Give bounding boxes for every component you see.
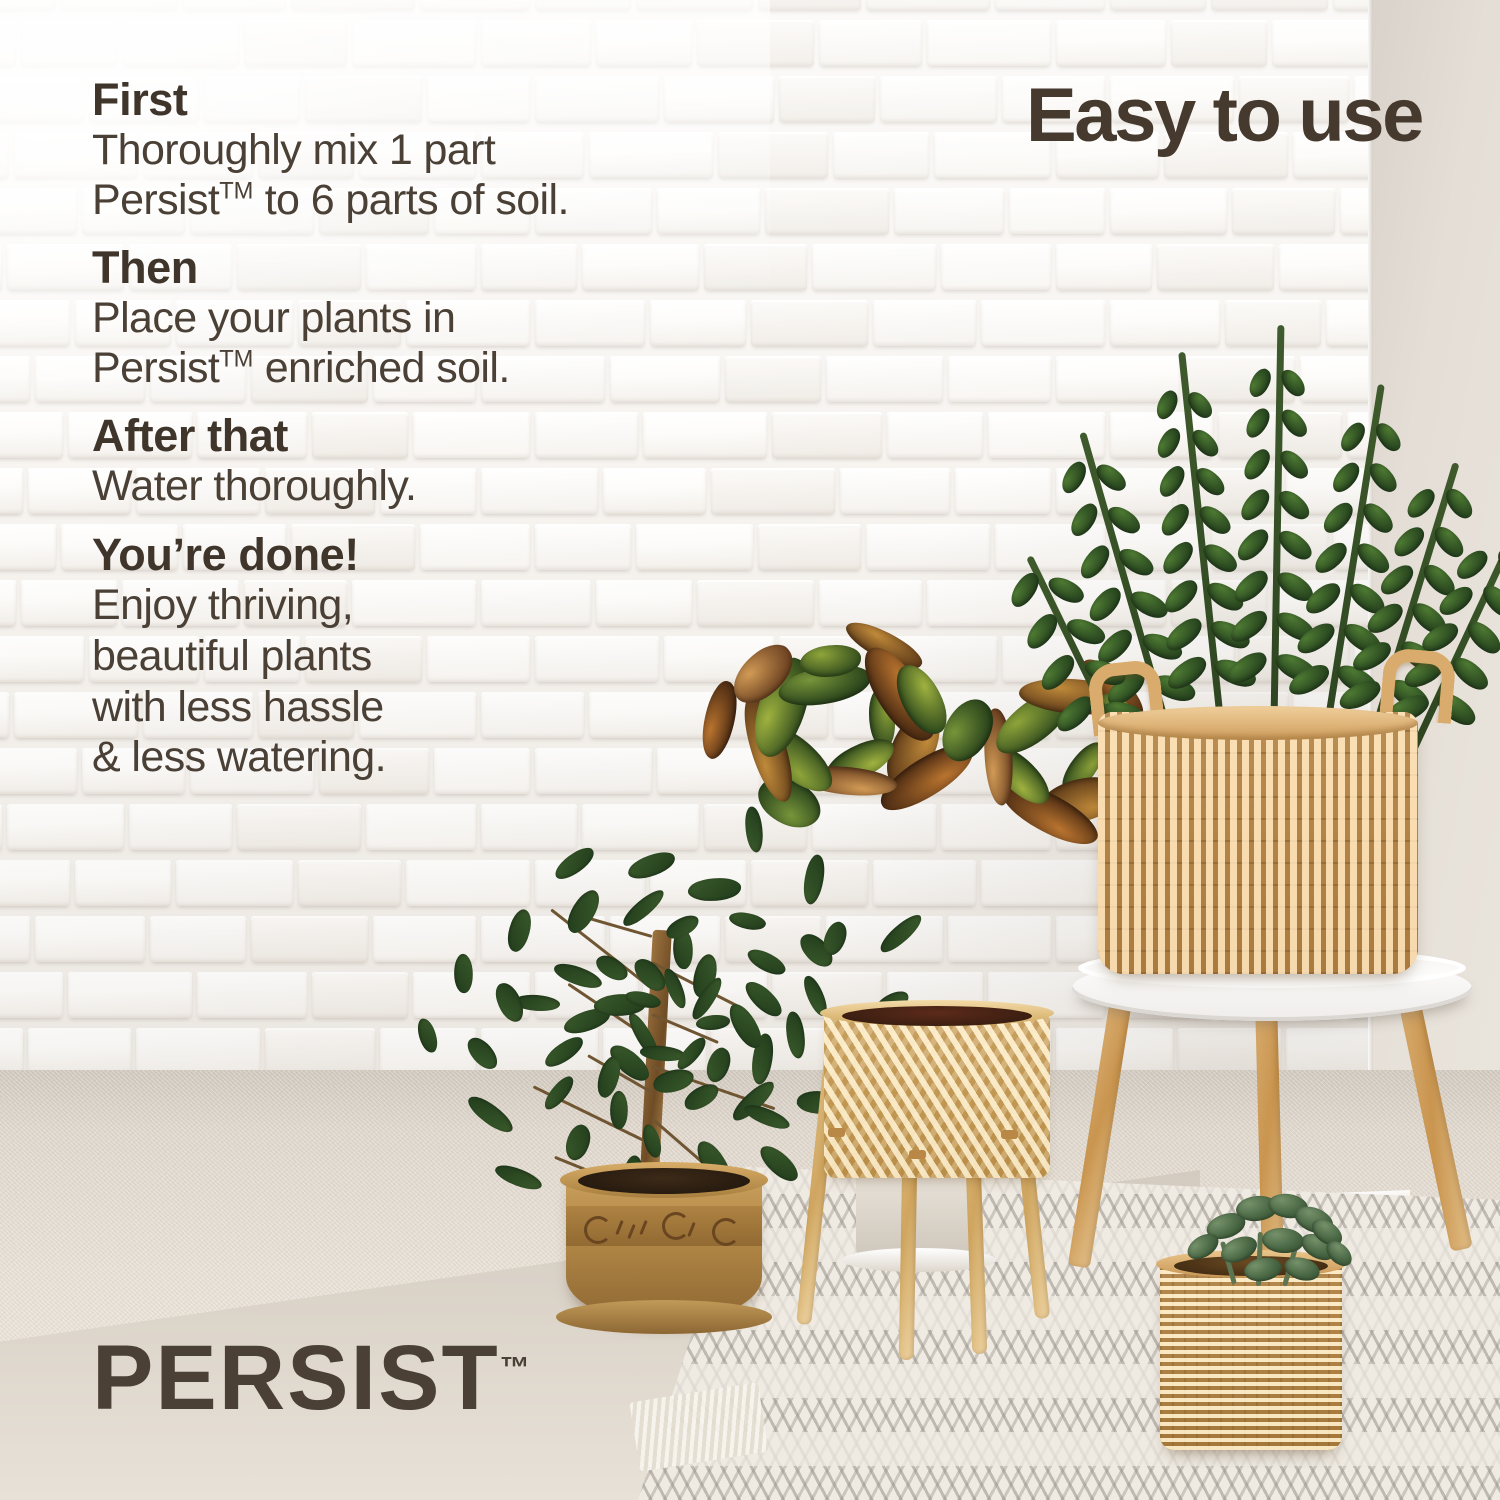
step-body-line: & less watering.	[92, 732, 752, 783]
step-body: Place your plants in PersistTM enriched …	[92, 293, 752, 394]
plant-leaf	[1389, 523, 1429, 561]
headline: Easy to use	[1026, 78, 1422, 154]
water-hyacinth-basket	[1098, 712, 1418, 974]
pot-spiral-motif	[712, 1218, 740, 1246]
trademark-symbol: ™	[500, 1351, 530, 1384]
bamboo-basket	[824, 1010, 1050, 1178]
plant-leaf	[1156, 500, 1195, 540]
step-body-line: Place your plants in	[92, 293, 752, 344]
brand-inline: Persist	[92, 176, 219, 224]
plant-leaf	[1157, 538, 1198, 579]
plant-leaf	[541, 1033, 588, 1071]
product-infographic: Easy to use First Thoroughly mix 1 part …	[0, 0, 1500, 1500]
step-body: Enjoy thriving, beautiful plants with le…	[92, 580, 752, 783]
plant-leaf	[551, 843, 599, 882]
step-youre-done: You’re done! Enjoy thriving, beautiful p…	[92, 531, 752, 783]
brand-name: PERSIST	[92, 1327, 500, 1429]
step-body-line: PersistTM enriched soil.	[92, 343, 752, 394]
plant-leaf	[1245, 365, 1276, 400]
basket-weave-texture	[1160, 1260, 1342, 1450]
step-body: Water thoroughly.	[92, 461, 752, 512]
plant-leaf	[1238, 445, 1275, 483]
plant-leaf	[701, 1045, 737, 1086]
plant-leaf	[1154, 462, 1190, 501]
basket-weave-texture	[824, 1010, 1050, 1178]
pot-spiral-motif	[662, 1212, 690, 1240]
step-after-that: After that Water thoroughly.	[92, 412, 752, 511]
plant-leaf	[1074, 541, 1114, 583]
pot-soil	[578, 1168, 750, 1194]
step-body-line: Enjoy thriving,	[92, 580, 752, 631]
plant-leaf	[492, 980, 526, 1026]
plant-leaf	[1241, 405, 1275, 442]
step-body-line-rest: to 6 parts of soil.	[253, 176, 568, 224]
trademark-symbol: TM	[219, 179, 253, 205]
pot-spiral-motif	[584, 1216, 612, 1244]
step-body-line: PersistTM to 6 parts of soil.	[92, 175, 752, 226]
plant-leaf	[1318, 498, 1358, 537]
brand-inline: Persist	[92, 344, 219, 392]
bamboo-node	[828, 1128, 845, 1137]
step-title: First	[92, 76, 752, 125]
plant-leaf	[1056, 458, 1091, 497]
plant-leaf	[1151, 387, 1181, 422]
pot-saucer	[556, 1300, 772, 1334]
plant-leaf	[1402, 485, 1440, 522]
step-then: Then Place your plants in PersistTM enri…	[92, 244, 752, 394]
plant-leaf	[1083, 583, 1126, 626]
step-body-line-rest: enriched soil.	[253, 344, 509, 392]
plant-leaf	[785, 1011, 805, 1059]
bamboo-node	[1001, 1130, 1018, 1139]
trademark-symbol: TM	[219, 347, 253, 373]
plant-leaf	[464, 1090, 516, 1139]
brand-logo: PERSIST™	[92, 1332, 530, 1424]
step-title: After that	[92, 412, 752, 461]
step-first: First Thoroughly mix 1 part PersistTM to…	[92, 76, 752, 226]
step-body-line: Water thoroughly.	[92, 461, 752, 512]
plant-leaf	[1232, 525, 1274, 565]
step-body-line: Thoroughly mix 1 part	[92, 125, 752, 176]
plant-leaf	[1235, 485, 1274, 524]
bamboo-node	[909, 1150, 926, 1159]
plant-leaf	[559, 1121, 596, 1164]
basket-rim	[1098, 706, 1418, 740]
bamboo-basket-soil	[842, 1006, 1032, 1026]
plant-leaf	[1065, 500, 1102, 540]
plant-leaf	[1336, 419, 1371, 455]
step-title: You’re done!	[92, 531, 752, 580]
wicker-basket	[1160, 1260, 1342, 1450]
step-body-line: beautiful plants	[92, 631, 752, 682]
step-body-line: with less hassle	[92, 682, 752, 733]
plant-leaf	[1153, 425, 1186, 462]
plant-leaf	[1310, 538, 1352, 577]
plant-leaf	[1327, 458, 1364, 496]
basket-weave-texture	[1098, 712, 1418, 974]
step-body: Thoroughly mix 1 part PersistTM to 6 par…	[92, 125, 752, 226]
instructions-list: First Thoroughly mix 1 part PersistTM to…	[92, 76, 752, 799]
step-title: Then	[92, 244, 752, 293]
plant-leaf	[502, 907, 537, 955]
plant-leaf	[493, 1160, 545, 1196]
